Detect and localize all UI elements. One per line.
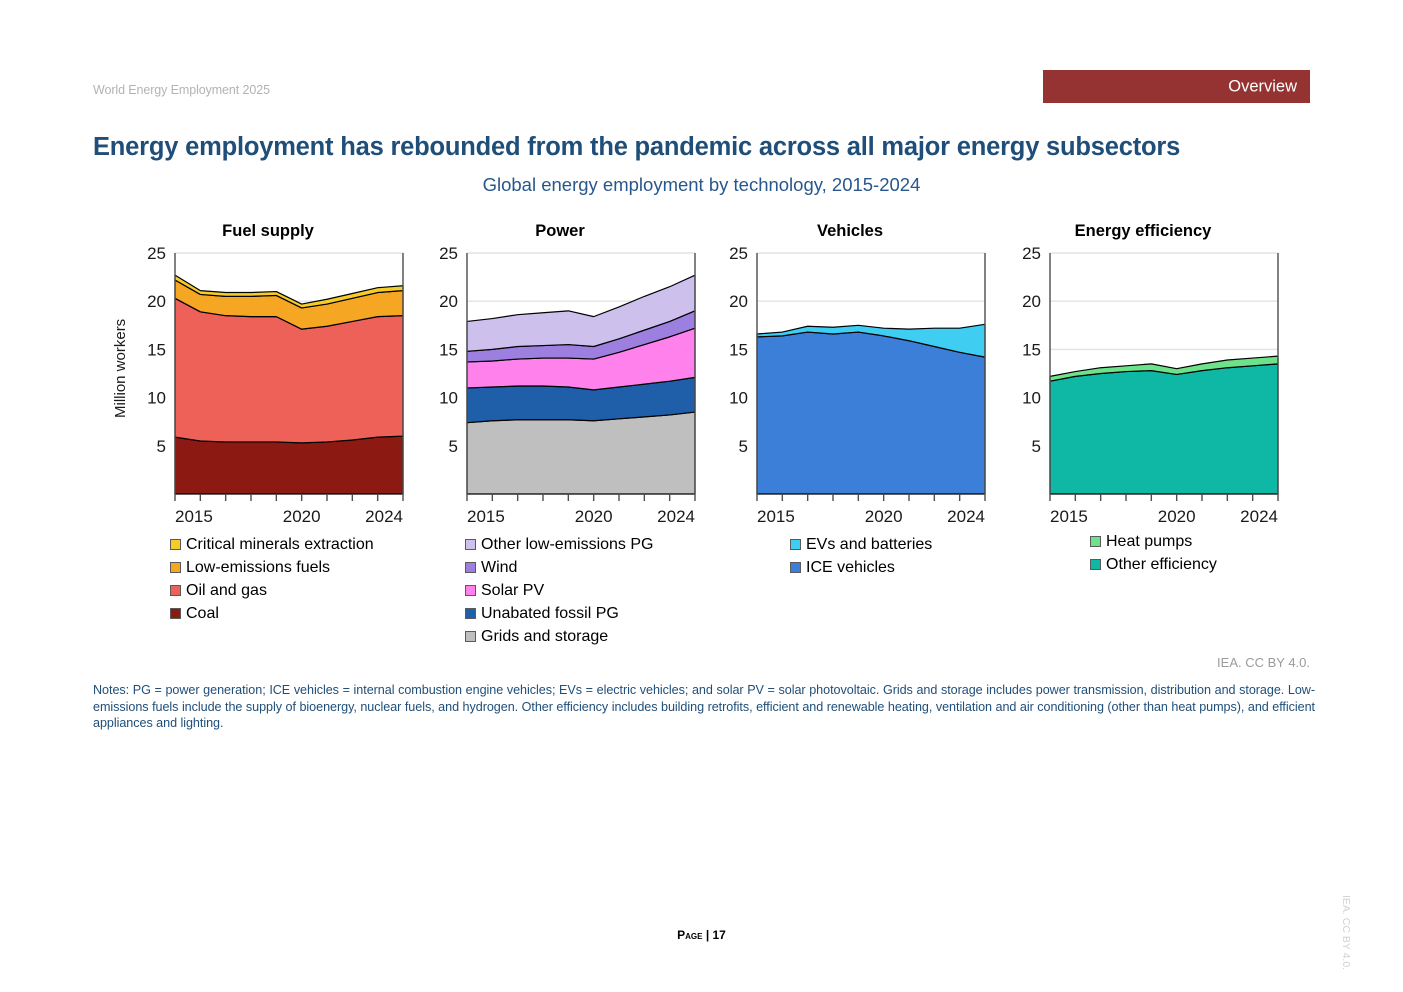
legend-swatch-icon	[790, 539, 801, 550]
legend-swatch-icon	[170, 562, 181, 573]
chart-plot: 510152025201520202024	[118, 244, 418, 542]
y-tick-label: 15	[439, 340, 458, 359]
legend-item[interactable]: Solar PV	[465, 579, 654, 602]
chart-panel-title: Power	[410, 222, 710, 241]
chart-panel-vehicles: Vehicles510152025201520202024	[700, 222, 1000, 542]
legend-swatch-icon	[170, 539, 181, 550]
legend-swatch-icon	[1090, 536, 1101, 547]
legend-item[interactable]: Low-emissions fuels	[170, 556, 374, 579]
area-series	[175, 436, 403, 494]
x-tick-label: 2015	[1050, 507, 1088, 526]
legend-item-label: Coal	[186, 602, 219, 625]
y-tick-label: 10	[147, 389, 166, 408]
legend-swatch-icon	[170, 585, 181, 596]
legend-item-label: ICE vehicles	[806, 556, 895, 579]
chart-panel-title: Vehicles	[700, 222, 1000, 241]
chart-plot: 510152025201520202024	[700, 244, 1000, 542]
legend-item-label: Critical minerals extraction	[186, 533, 374, 556]
legend-item-label: Other low-emissions PG	[481, 533, 654, 556]
chart-panel-title: Energy efficiency	[993, 222, 1293, 241]
legend-item[interactable]: Grids and storage	[465, 625, 654, 648]
chart-panel-fuel-supply: Fuel supplyMillion workers51015202520152…	[118, 222, 418, 542]
legend-swatch-icon	[465, 585, 476, 596]
charts-row: Fuel supplyMillion workers51015202520152…	[0, 222, 1403, 542]
legend-item[interactable]: Unabated fossil PG	[465, 602, 654, 625]
legend-item-label: Heat pumps	[1106, 530, 1192, 553]
page-title: Energy employment has rebounded from the…	[93, 133, 1180, 162]
legend-item-label: EVs and batteries	[806, 533, 932, 556]
legend-vehicles: EVs and batteriesICE vehicles	[790, 533, 932, 579]
chart-panel-energy-efficiency: Energy efficiency510152025201520202024	[993, 222, 1293, 542]
chart-plot: 510152025201520202024	[410, 244, 710, 542]
y-tick-label: 20	[729, 292, 748, 311]
chart-panel-title: Fuel supply	[118, 222, 418, 241]
legend-swatch-icon	[170, 608, 181, 619]
legend-item-label: Other efficiency	[1106, 553, 1217, 576]
notes-text: Notes: PG = power generation; ICE vehicl…	[93, 682, 1315, 732]
area-series	[467, 412, 695, 494]
page-canvas: World Energy Employment 2025 Overview En…	[0, 0, 1403, 992]
area-series	[757, 332, 985, 494]
legend-item-label: Solar PV	[481, 579, 544, 602]
y-tick-label: 15	[147, 340, 166, 359]
y-tick-label: 5	[1032, 437, 1041, 456]
chart-panel-power: Power510152025201520202024	[410, 222, 710, 542]
y-tick-label: 10	[729, 389, 748, 408]
chart-subtitle: Global energy employment by technology, …	[0, 174, 1403, 196]
x-tick-label: 2015	[757, 507, 795, 526]
legend-swatch-icon	[465, 608, 476, 619]
legend-swatch-icon	[465, 562, 476, 573]
y-tick-label: 20	[1022, 292, 1041, 311]
legend-fuel-supply: Critical minerals extractionLow-emission…	[170, 533, 374, 625]
x-tick-label: 2020	[1158, 507, 1196, 526]
legend-item[interactable]: EVs and batteries	[790, 533, 932, 556]
x-tick-label: 2020	[575, 507, 613, 526]
side-credit-label: IEA. CC BY 4.0.	[1340, 895, 1352, 970]
y-tick-label: 5	[449, 437, 458, 456]
x-tick-label: 2015	[175, 507, 213, 526]
x-tick-label: 2024	[1240, 507, 1278, 526]
section-banner: Overview	[1043, 70, 1310, 103]
y-tick-label: 20	[439, 292, 458, 311]
y-tick-label: 25	[147, 244, 166, 263]
y-tick-label: 5	[157, 437, 166, 456]
area-series	[1050, 364, 1278, 494]
legend-item[interactable]: ICE vehicles	[790, 556, 932, 579]
legend-item[interactable]: Oil and gas	[170, 579, 374, 602]
y-tick-label: 10	[439, 389, 458, 408]
x-tick-label: 2020	[283, 507, 321, 526]
y-tick-label: 20	[147, 292, 166, 311]
legend-item[interactable]: Wind	[465, 556, 654, 579]
legend-power: Other low-emissions PGWindSolar PVUnabat…	[465, 533, 654, 648]
y-tick-label: 25	[729, 244, 748, 263]
legend-item-label: Grids and storage	[481, 625, 608, 648]
y-tick-label: 10	[1022, 389, 1041, 408]
section-banner-label: Overview	[1228, 77, 1297, 96]
x-tick-label: 2024	[947, 507, 985, 526]
y-tick-label: 15	[729, 340, 748, 359]
y-tick-label: 25	[1022, 244, 1041, 263]
legend-swatch-icon	[1090, 559, 1101, 570]
y-tick-label: 15	[1022, 340, 1041, 359]
x-tick-label: 2024	[657, 507, 695, 526]
legend-swatch-icon	[790, 562, 801, 573]
legend-energy-efficiency: Heat pumpsOther efficiency	[1090, 530, 1217, 576]
chart-plot: 510152025201520202024	[993, 244, 1293, 542]
x-tick-label: 2015	[467, 507, 505, 526]
running-head: World Energy Employment 2025	[93, 83, 270, 97]
legend-item-label: Wind	[481, 556, 517, 579]
page-number: Page | 17	[0, 928, 1403, 942]
legend-item-label: Oil and gas	[186, 579, 267, 602]
legend-item-label: Unabated fossil PG	[481, 602, 619, 625]
y-tick-label: 5	[739, 437, 748, 456]
x-tick-label: 2020	[865, 507, 903, 526]
x-tick-label: 2024	[365, 507, 403, 526]
legend-swatch-icon	[465, 631, 476, 642]
legend-item[interactable]: Coal	[170, 602, 374, 625]
legend-item[interactable]: Critical minerals extraction	[170, 533, 374, 556]
legend-item[interactable]: Other low-emissions PG	[465, 533, 654, 556]
y-tick-label: 25	[439, 244, 458, 263]
legend-item-label: Low-emissions fuels	[186, 556, 330, 579]
legend-swatch-icon	[465, 539, 476, 550]
legend-item[interactable]: Heat pumps	[1090, 530, 1217, 553]
credit-label: IEA. CC BY 4.0.	[1217, 655, 1310, 670]
legend-item[interactable]: Other efficiency	[1090, 553, 1217, 576]
